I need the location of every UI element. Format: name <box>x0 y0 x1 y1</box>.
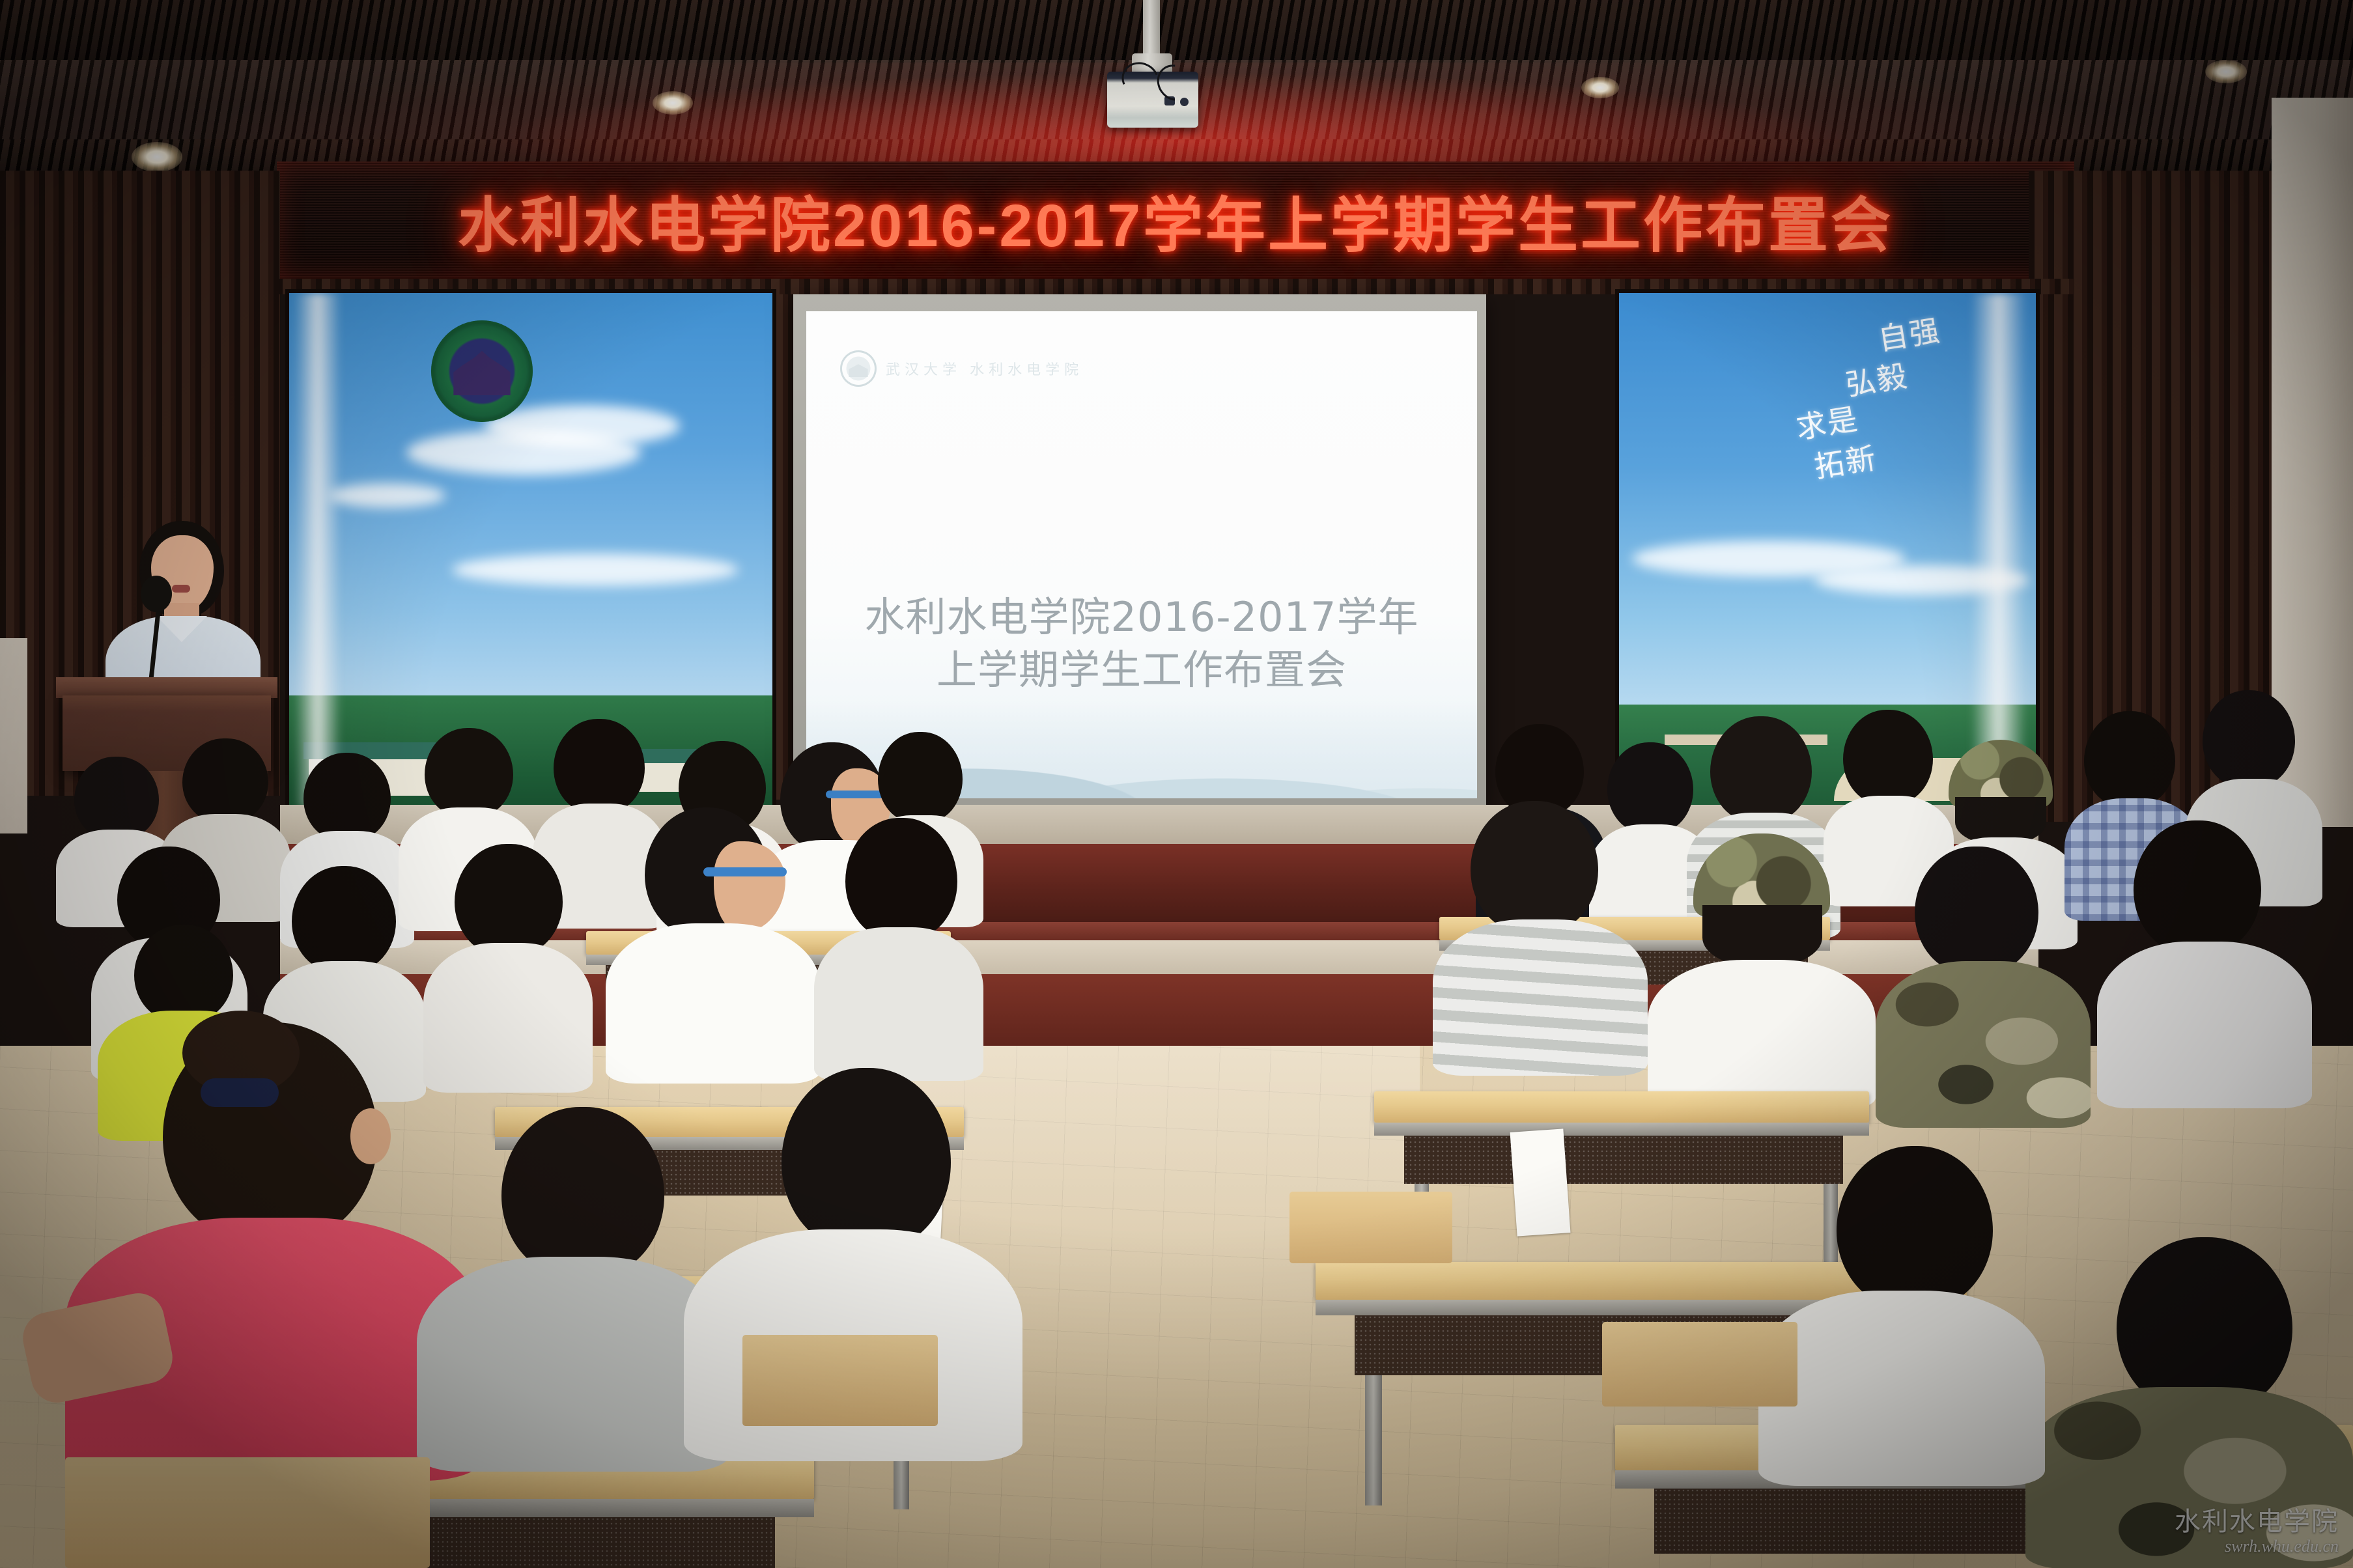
chair-back-2 <box>742 1335 938 1426</box>
head <box>2134 820 2261 955</box>
audience-mid-right-1 <box>1433 801 1648 1074</box>
projector-mount-pole <box>1143 0 1160 57</box>
head <box>425 728 513 818</box>
seat-placard <box>1510 1128 1571 1236</box>
chair-back-4 <box>1289 1192 1452 1263</box>
audience-front-left-1-pink <box>26 1022 482 1478</box>
head <box>1710 716 1812 823</box>
ceiling-downlight-1 <box>132 142 182 172</box>
head <box>501 1107 664 1278</box>
head <box>182 738 268 823</box>
head <box>782 1068 951 1250</box>
camo-cap-icon-2 <box>1693 833 1830 917</box>
ear <box>350 1108 391 1164</box>
led-banner-text: 水利水电学院2016-2017学年上学期学生工作布置会 <box>277 161 2074 279</box>
left-wall-panel <box>0 638 27 833</box>
student-grey-stripe-tee <box>1433 919 1648 1076</box>
slide-logo: 武汉大学 水利水电学院 <box>840 350 1083 387</box>
slide-title: 水利水电学院2016-2017学年 上学期学生工作布置会 <box>806 591 1477 696</box>
head <box>292 866 396 973</box>
desk-leg <box>1365 1375 1382 1505</box>
desk-top <box>1374 1091 1869 1123</box>
wuhan-university-seal-icon <box>431 320 533 422</box>
head <box>554 719 645 814</box>
head <box>74 757 159 840</box>
seal-gate-shape <box>453 351 510 396</box>
mural-left-cloud-4 <box>452 553 739 586</box>
projection-screen-surface: 武汉大学 水利水电学院 水利水电学院2016-2017学年 上学期学生工作布置会 <box>806 311 1477 798</box>
ceiling-downlight-4 <box>2205 60 2247 83</box>
audience-front-right-2 <box>1758 1146 2045 1485</box>
head <box>2084 711 2175 807</box>
watermark: 水利水电学院 swrh.whu.edu.cn <box>2175 1507 2339 1556</box>
head <box>878 732 963 823</box>
audience-mid-center-2 <box>814 818 983 1078</box>
head <box>1837 1146 1993 1309</box>
lecture-hall-photo: 水利水电学院2016-2017学年上学期学生工作布置会 自强 弘毅 <box>0 0 2353 1568</box>
ceiling-downlight-2 <box>653 91 693 115</box>
projection-screen: 武汉大学 水利水电学院 水利水电学院2016-2017学年 上学期学生工作布置会 <box>793 294 1486 805</box>
ceiling-beam-upper <box>0 0 2353 60</box>
head <box>1471 801 1598 934</box>
mural-right-glare <box>1971 293 2027 807</box>
mural-left-cloud-3 <box>328 483 445 508</box>
head <box>1915 847 2038 974</box>
head <box>1843 710 1933 805</box>
head <box>134 925 233 1022</box>
audience-front-left-2-grey <box>417 1107 729 1472</box>
microphone-icon <box>141 576 172 612</box>
watermark-institution: 水利水电学院 <box>2175 1507 2339 1537</box>
audience-mid-center-1 <box>606 807 821 1081</box>
chair-back-1 <box>65 1457 430 1568</box>
audience-mid-right-3-camo <box>1876 847 2091 1127</box>
student-camo-shirt <box>1876 961 2091 1128</box>
slide-title-line-2: 上学期学生工作布置会 <box>806 644 1477 697</box>
audience-mid-right-2 <box>1648 833 1876 1107</box>
glasses-icon <box>703 867 787 876</box>
desk-edge <box>1374 1123 1869 1136</box>
mural-left-cloud-2 <box>485 405 680 447</box>
hair-tie <box>201 1078 279 1107</box>
torso <box>1648 960 1876 1110</box>
speaker-mouth <box>172 585 190 593</box>
head <box>303 753 391 841</box>
led-banner: 水利水电学院2016-2017学年上学期学生工作布置会 <box>277 161 2074 279</box>
head <box>455 844 563 956</box>
mural-left-glare <box>294 293 341 807</box>
wuhan-university-logo-icon <box>840 350 877 387</box>
chair-back-3 <box>1602 1322 1797 1407</box>
watermark-url: swrh.whu.edu.cn <box>2175 1537 2339 1556</box>
torso <box>606 923 821 1084</box>
face-profile <box>714 841 785 932</box>
torso <box>1758 1291 2045 1486</box>
head <box>845 818 957 940</box>
torso <box>2097 942 2312 1108</box>
slide-logo-text: 武汉大学 水利水电学院 <box>886 358 1083 379</box>
head-under-cap-2 <box>1702 905 1822 968</box>
ceiling-downlight-3 <box>1581 77 1619 98</box>
audience-mid-right-4 <box>2097 820 2312 1107</box>
torso <box>814 927 983 1081</box>
torso <box>417 1257 729 1472</box>
head <box>2203 690 2295 788</box>
slide-title-line-1: 水利水电学院2016-2017学年 <box>806 591 1477 644</box>
